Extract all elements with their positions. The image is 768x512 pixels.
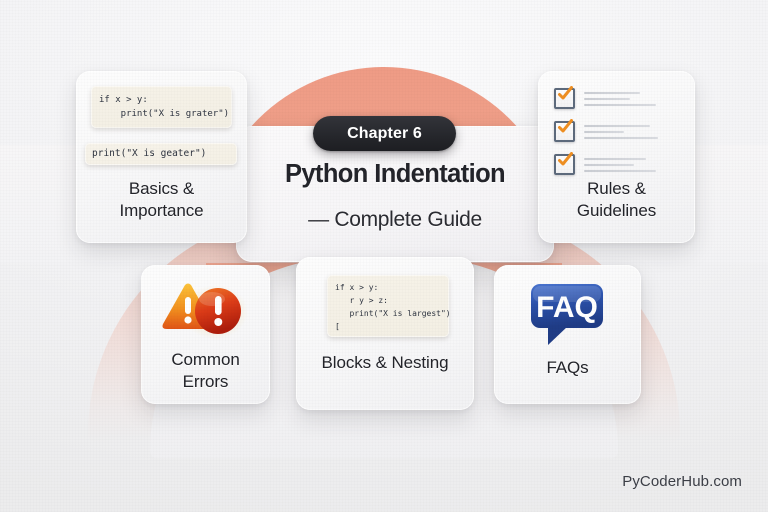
card-faqs[interactable]: FAQ FAQs: [494, 265, 641, 404]
chapter-badge-label: Chapter 6: [347, 125, 422, 143]
card-rules-label-line1: Rules &: [538, 178, 695, 200]
card-errors-label-line2: Errors: [141, 371, 270, 393]
placeholder-line: [584, 137, 658, 139]
placeholder-line: [584, 104, 656, 106]
placeholder-line: [584, 131, 624, 133]
code-snippet-unindented: print("X is geater"): [85, 143, 237, 165]
code-snippet-nested: if x > y: r y > z: print("X is largest")…: [327, 275, 449, 337]
checklist-row: [554, 154, 656, 175]
checklist-line-group: [584, 158, 656, 172]
code-snippet-indented: if x > y: print("X is grater"): [91, 86, 232, 128]
card-blocks-label: Blocks & Nesting: [296, 352, 474, 374]
checklist-row: [554, 121, 658, 142]
card-blocks-nesting[interactable]: if x > y: r y > z: print("X is largest")…: [296, 257, 474, 410]
placeholder-line: [584, 92, 640, 94]
infographic-canvas: Chapter 6 Python Indentation — Complete …: [0, 0, 768, 512]
card-rules-label: Rules & Guidelines: [538, 178, 695, 222]
card-basics-importance[interactable]: if x > y: print("X is grater") print("X …: [76, 71, 247, 243]
faq-speech-bubble-icon: FAQ: [526, 281, 608, 347]
card-errors-label: Common Errors: [141, 349, 270, 393]
checklist-line-group: [584, 125, 658, 139]
placeholder-line: [584, 158, 646, 160]
checklist-row: [554, 88, 656, 109]
svg-text:FAQ: FAQ: [536, 291, 598, 324]
card-rules-label-line2: Guidelines: [538, 200, 695, 222]
placeholder-line: [584, 164, 634, 166]
checkbox-checked-icon[interactable]: [554, 88, 575, 109]
checkmark-icon: [557, 152, 573, 168]
card-basics-label-line2: Importance: [76, 200, 247, 222]
card-errors-label-line1: Common: [141, 349, 270, 371]
card-basics-label-line1: Basics &: [76, 178, 247, 200]
checkbox-checked-icon[interactable]: [554, 154, 575, 175]
page-title: Python Indentation: [236, 160, 554, 189]
card-basics-label: Basics & Importance: [76, 178, 247, 222]
checklist-line-group: [584, 92, 656, 106]
placeholder-line: [584, 98, 630, 100]
card-faqs-label: FAQs: [494, 357, 641, 379]
checkmark-icon: [557, 119, 573, 135]
checkmark-icon: [557, 86, 573, 102]
footer-site-name: PyCoderHub.com: [622, 473, 742, 490]
checkbox-checked-icon[interactable]: [554, 121, 575, 142]
card-rules-guidelines[interactable]: Rules & Guidelines: [538, 71, 695, 243]
placeholder-line: [584, 170, 656, 172]
warning-triangle-and-circle-icon: [157, 279, 255, 341]
placeholder-line: [584, 125, 650, 127]
page-subtitle: — Complete Guide: [236, 208, 554, 232]
card-common-errors[interactable]: Common Errors: [141, 265, 270, 404]
chapter-badge: Chapter 6: [313, 116, 456, 151]
